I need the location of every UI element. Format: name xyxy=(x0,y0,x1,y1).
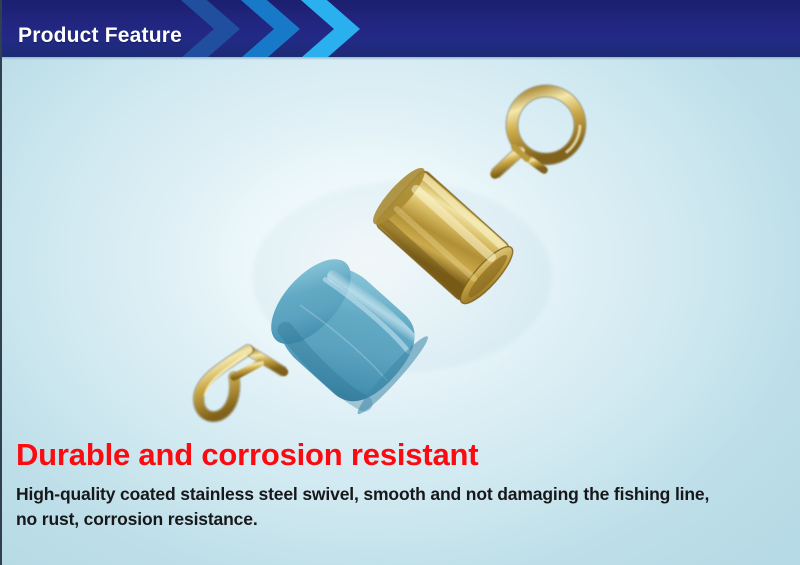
description-line-1: High-quality coated stainless steel swiv… xyxy=(16,482,791,507)
headline-text: Durable and corrosion resistant xyxy=(16,439,791,471)
product-feature-banner: Product Feature xyxy=(0,0,800,565)
product-photo: Durable and corrosion resistant High-qua… xyxy=(2,57,800,565)
fishing-swivel-illustration xyxy=(152,67,632,437)
header-bar: Product Feature xyxy=(2,0,800,57)
photo-top-edge xyxy=(2,57,800,60)
chevron-3-icon xyxy=(294,0,380,57)
caption-block: Durable and corrosion resistant High-qua… xyxy=(16,439,791,532)
page-title: Product Feature xyxy=(18,24,182,48)
description-line-2: no rust, corrosion resistance. xyxy=(16,507,791,532)
